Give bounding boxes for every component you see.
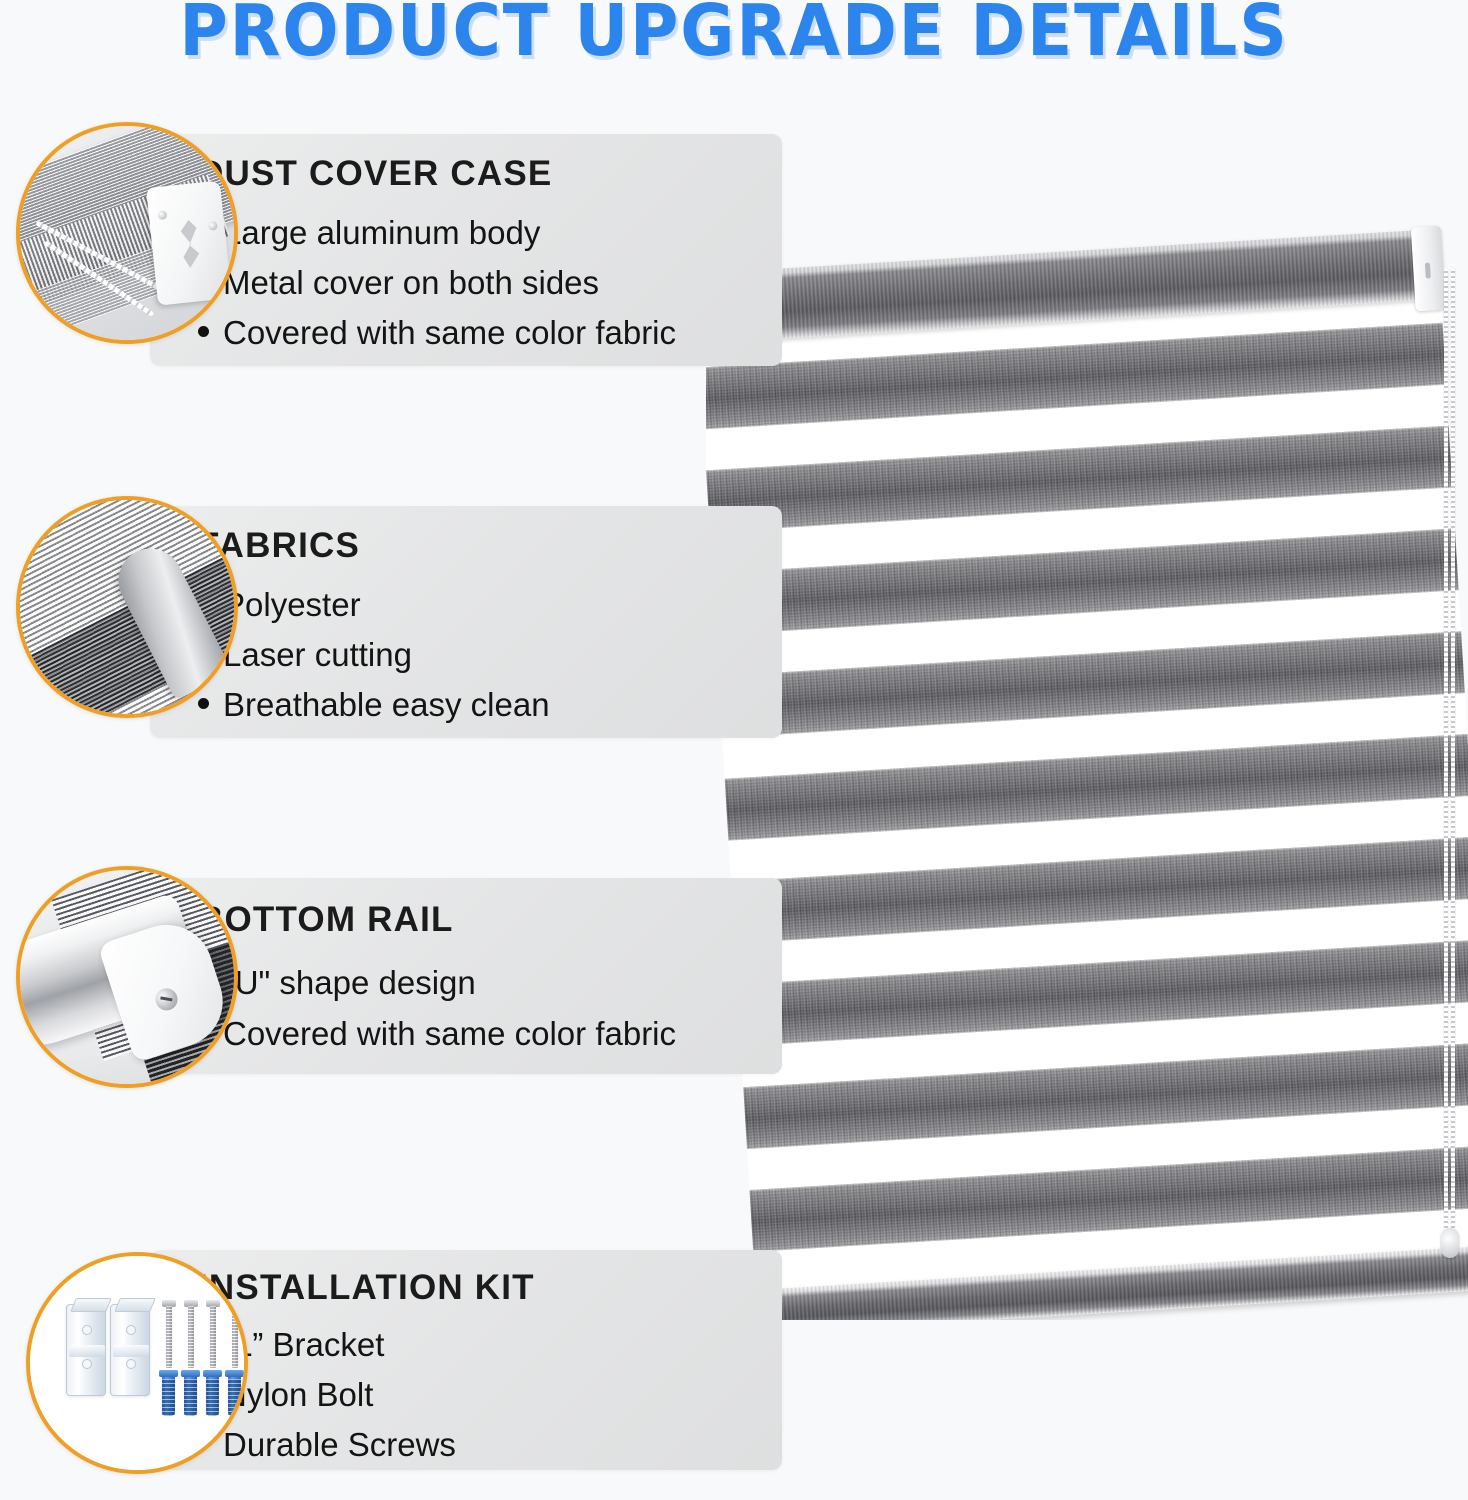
thumbnail-bottom-rail [16, 866, 238, 1088]
product-image-zebra-blind [706, 200, 1468, 1320]
fabric-band [706, 426, 1452, 533]
section-heading-dust-cover-case: DUST COVER CASE [198, 154, 772, 194]
l-bracket-icon [110, 1304, 150, 1396]
thumbnail-installation-kit [26, 1252, 248, 1474]
thumbnail-dust-cover-case [16, 122, 238, 344]
list-item-label: Laser cutting [223, 636, 412, 674]
list-item-label: Covered with same color fabric [223, 314, 676, 352]
list-item-label: Large aluminum body [223, 214, 540, 252]
list-item-label: Polyester [223, 586, 361, 624]
list-item-label: Metal cover on both sides [223, 264, 599, 302]
feature-list-fabrics: Polyester Laser cutting Breathable easy … [198, 586, 772, 724]
section-heading-fabrics: FABRICS [198, 526, 772, 566]
screw-icon [210, 1306, 216, 1368]
list-item: Metal cover on both sides [198, 264, 772, 302]
list-item: Covered with same color fabric [198, 1015, 772, 1053]
fabric-band [725, 734, 1468, 841]
list-item: Durable Screws [198, 1426, 772, 1464]
list-item: Covered with same color fabric [198, 314, 772, 352]
chain-strand [1451, 268, 1455, 1240]
fabric-band [712, 528, 1458, 635]
wall-anchor-icon [228, 1374, 241, 1416]
list-item-label: Breathable easy clean [223, 686, 550, 724]
fabric-band [706, 323, 1446, 430]
wall-anchor-icon [184, 1374, 197, 1416]
wall-anchor-icon [162, 1374, 175, 1416]
headrail-end-cap-icon [1411, 226, 1446, 312]
blind-fabric-face [706, 243, 1468, 1296]
fabric-band [749, 1145, 1468, 1252]
list-item-label: Durable Screws [223, 1426, 456, 1464]
fabric-band [737, 940, 1468, 1047]
page-title: PRODUCT UPGRADE DETAILS [51, 0, 1416, 69]
section-heading-bottom-rail: BOTTOM RAIL [198, 900, 772, 940]
list-item-label: Covered with same color fabric [223, 1015, 676, 1053]
list-item: Laser cutting [198, 636, 772, 674]
screw-icon [232, 1306, 238, 1368]
feature-list-bottom-rail: "U" shape design Covered with same color… [198, 964, 772, 1053]
dust-cover-end-cap-icon [146, 180, 232, 305]
list-item: Breathable easy clean [198, 686, 772, 724]
list-item: "U" shape design [198, 964, 772, 1002]
l-bracket-icon [66, 1304, 106, 1396]
feature-panel-dust-cover-case: DUST COVER CASE Large aluminum body Meta… [150, 134, 782, 366]
infographic-canvas: PRODUCT UPGRADE DETAILS [0, 0, 1468, 1500]
chain-strand [1444, 268, 1448, 1240]
feature-panel-fabrics: FABRICS Polyester Laser cutting Breathab… [150, 506, 782, 738]
feature-panel-bottom-rail: BOTTOM RAIL "U" shape design Covered wit… [150, 878, 782, 1074]
list-item: Large aluminum body [198, 214, 772, 252]
screw-icon [188, 1306, 194, 1368]
list-item: Polyester [198, 586, 772, 624]
feature-list-installation-kit: “L” Bracket Nylon Bolt Durable Screws [198, 1326, 772, 1464]
list-item: Nylon Bolt [198, 1376, 772, 1414]
screw-icon [166, 1306, 172, 1368]
list-item-label: "U" shape design [223, 964, 476, 1002]
list-item: “L” Bracket [198, 1326, 772, 1364]
fabric-band [731, 837, 1468, 944]
feature-list-dust-cover-case: Large aluminum body Metal cover on both … [198, 214, 772, 352]
chain-connector [1441, 1228, 1459, 1258]
fabric-band [743, 1042, 1468, 1149]
wall-anchor-icon [206, 1374, 219, 1416]
screw-icon [153, 986, 181, 1014]
section-heading-installation-kit: INSTALLATION KIT [198, 1268, 772, 1308]
bead-chain-loop [1444, 268, 1456, 1240]
fabric-band [718, 631, 1464, 738]
thumbnail-fabrics [16, 496, 238, 718]
